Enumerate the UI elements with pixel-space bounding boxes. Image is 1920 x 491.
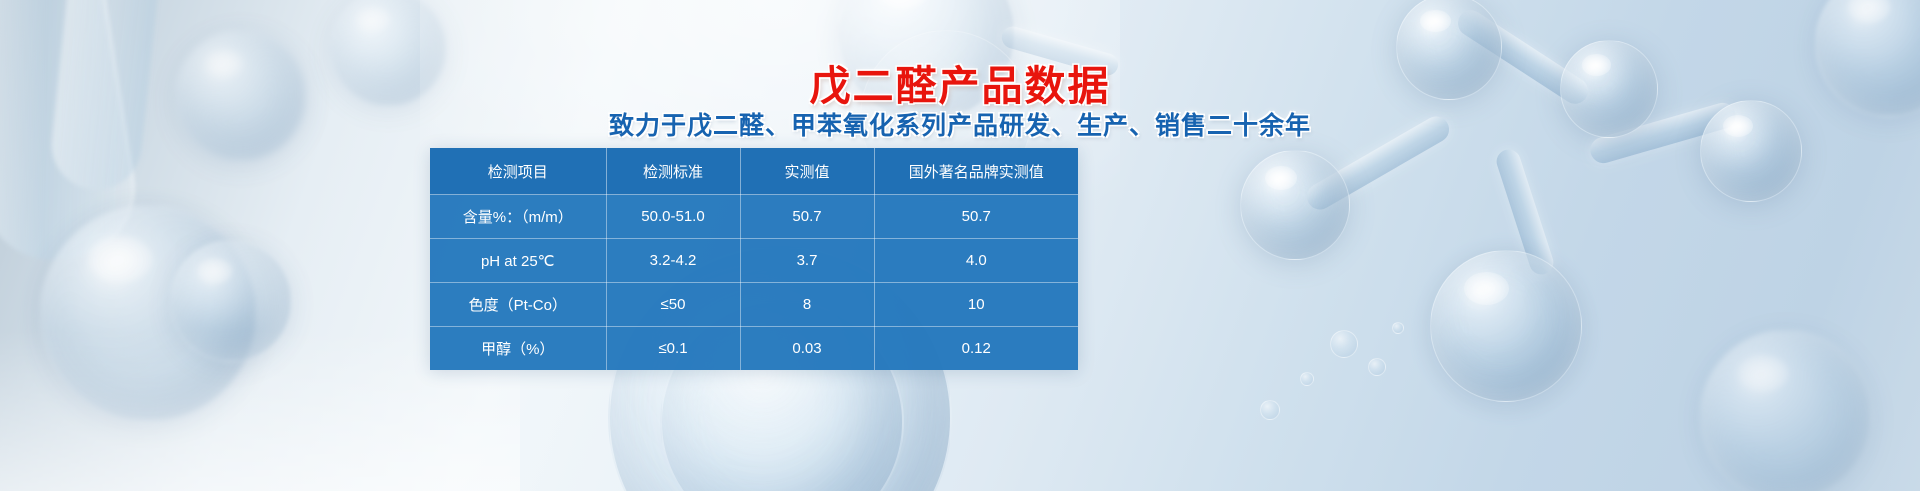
molecule-bond-icon (1494, 146, 1557, 277)
column-header-measured: 实测值 (740, 148, 874, 195)
bubble-icon (1368, 358, 1386, 376)
cell-standard: 3.2-4.2 (606, 239, 740, 283)
cell-standard: 50.0-51.0 (606, 195, 740, 239)
cell-item: pH at 25℃ (430, 239, 606, 283)
cell-standard: ≤50 (606, 283, 740, 327)
table-header-row: 检测项目 检测标准 实测值 国外著名品牌实测值 (430, 148, 1078, 195)
cell-item: 甲醇（%） (430, 327, 606, 371)
cell-item: 色度（Pt-Co） (430, 283, 606, 327)
page-title: 戊二醛产品数据 (810, 52, 1111, 112)
table-row: 色度（Pt-Co） ≤50 8 10 (430, 283, 1078, 327)
molecule-sphere-icon (1430, 250, 1582, 402)
column-header-foreign-measured: 国外著名品牌实测值 (874, 148, 1078, 195)
cell-foreign-measured: 50.7 (874, 195, 1078, 239)
table-header: 检测项目 检测标准 实测值 国外著名品牌实测值 (430, 148, 1078, 195)
table-row: 甲醇（%） ≤0.1 0.03 0.12 (430, 327, 1078, 371)
cell-measured: 8 (740, 283, 874, 327)
bubble-icon (1300, 372, 1314, 386)
product-data-banner: 戊二醛产品数据 致力于戊二醛、甲苯氧化系列产品研发、生产、销售二十余年 检测项目… (0, 0, 1920, 491)
table-body: 含量%：（m/m） 50.0-51.0 50.7 50.7 pH at 25℃ … (430, 195, 1078, 371)
cell-measured: 3.7 (740, 239, 874, 283)
molecule-sphere-icon (170, 240, 292, 362)
column-header-standard: 检测标准 (606, 148, 740, 195)
molecule-sphere-icon (40, 205, 257, 422)
page-subtitle: 致力于戊二醛、甲苯氧化系列产品研发、生产、销售二十余年 (609, 106, 1311, 142)
product-spec-table: 检测项目 检测标准 实测值 国外著名品牌实测值 含量%：（m/m） 50.0-5… (430, 148, 1078, 370)
table-row: pH at 25℃ 3.2-4.2 3.7 4.0 (430, 239, 1078, 283)
molecule-sphere-icon (1700, 330, 1872, 491)
bubble-icon (1392, 322, 1404, 334)
cell-measured: 0.03 (740, 327, 874, 371)
column-header-item: 检测项目 (430, 148, 606, 195)
bubble-icon (1260, 400, 1280, 420)
cell-standard: ≤0.1 (606, 327, 740, 371)
bubble-icon (1330, 330, 1358, 358)
table-row: 含量%：（m/m） 50.0-51.0 50.7 50.7 (430, 195, 1078, 239)
subtitle-container: 致力于戊二醛、甲苯氧化系列产品研发、生产、销售二十余年 (0, 106, 1920, 142)
cell-measured: 50.7 (740, 195, 874, 239)
cell-item: 含量%：（m/m） (430, 195, 606, 239)
cell-foreign-measured: 10 (874, 283, 1078, 327)
title-container: 戊二醛产品数据 (0, 52, 1920, 112)
molecule-sphere-icon (1240, 150, 1350, 260)
cell-foreign-measured: 0.12 (874, 327, 1078, 371)
cell-foreign-measured: 4.0 (874, 239, 1078, 283)
